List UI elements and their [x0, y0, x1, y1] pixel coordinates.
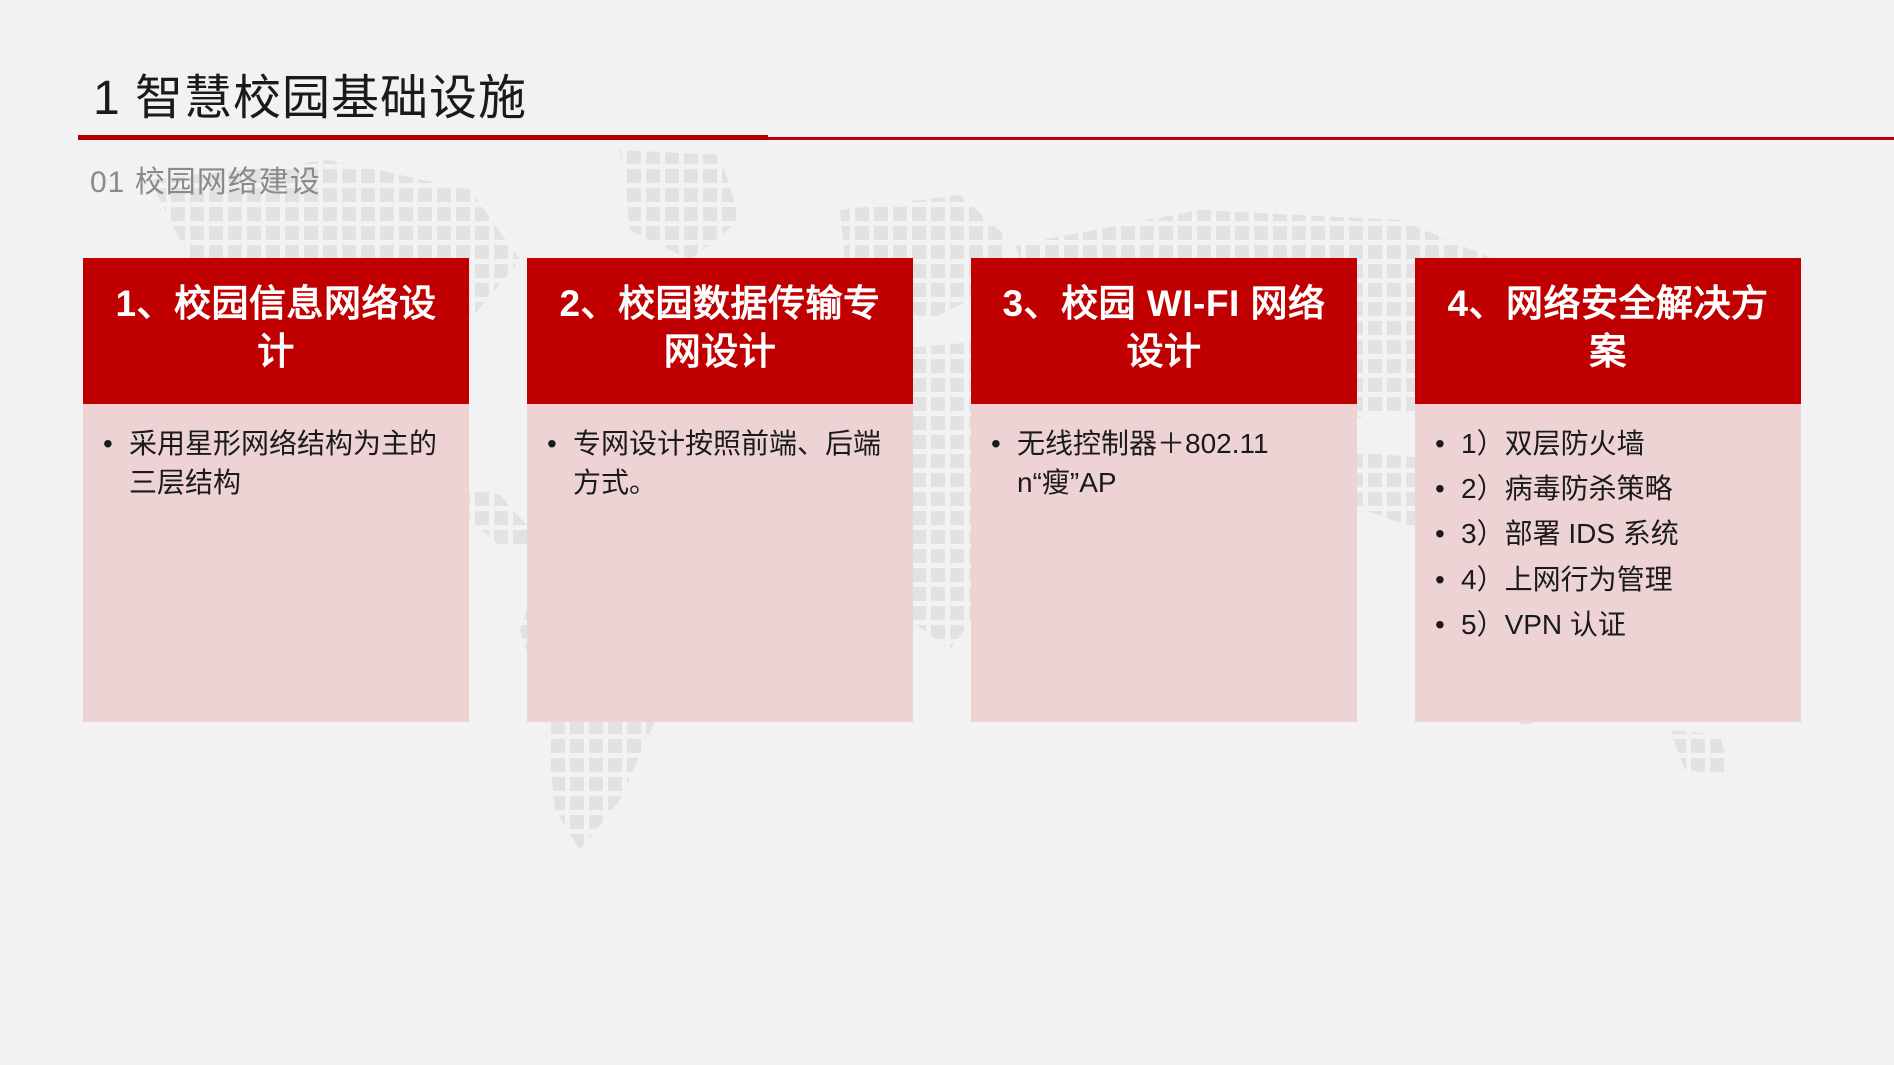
list-item: 3）部署 IDS 系统 [1431, 514, 1789, 553]
card-data-transmission-network[interactable]: 2、校园数据传输专网设计 专网设计按照前端、后端方式。 [527, 258, 913, 722]
list-item: 无线控制器＋802.11n“瘦”AP [987, 424, 1345, 502]
page-subtitle: 01 校园网络建设 [90, 157, 321, 201]
page-title: 1 智慧校园基础设施 [93, 58, 527, 128]
card-header-title: 2、校园数据传输专网设计 [527, 258, 913, 404]
list-item: 4）上网行为管理 [1431, 560, 1789, 599]
card-body: 无线控制器＋802.11n“瘦”AP [971, 404, 1357, 722]
list-item: 专网设计按照前端、后端方式。 [543, 424, 901, 502]
card-bullet-list: 1）双层防火墙 2）病毒防杀策略 3）部署 IDS 系统 4）上网行为管理 5）… [1431, 424, 1789, 644]
card-network-security-solution[interactable]: 4、网络安全解决方案 1）双层防火墙 2）病毒防杀策略 3）部署 IDS 系统 … [1415, 258, 1801, 722]
card-header-title: 1、校园信息网络设计 [83, 258, 469, 404]
card-bullet-list: 专网设计按照前端、后端方式。 [543, 424, 901, 502]
title-divider-accent [78, 135, 768, 140]
card-header-title: 4、网络安全解决方案 [1415, 258, 1801, 404]
card-campus-wifi-network[interactable]: 3、校园 WI-FI 网络设计 无线控制器＋802.11n“瘦”AP [971, 258, 1357, 722]
list-item: 1）双层防火墙 [1431, 424, 1789, 463]
slide-header: 1 智慧校园基础设施 01 校园网络建设 [0, 0, 1894, 215]
card-body: 1）双层防火墙 2）病毒防杀策略 3）部署 IDS 系统 4）上网行为管理 5）… [1415, 404, 1801, 722]
list-item: 2）病毒防杀策略 [1431, 469, 1789, 508]
card-body: 专网设计按照前端、后端方式。 [527, 404, 913, 722]
card-bullet-list: 采用星形网络结构为主的三层结构 [99, 424, 457, 502]
list-item: 5）VPN 认证 [1431, 605, 1789, 644]
card-bullet-list: 无线控制器＋802.11n“瘦”AP [987, 424, 1345, 502]
card-body: 采用星形网络结构为主的三层结构 [83, 404, 469, 722]
card-row: 1、校园信息网络设计 采用星形网络结构为主的三层结构 2、校园数据传输专网设计 … [0, 258, 1894, 658]
card-header-title: 3、校园 WI-FI 网络设计 [971, 258, 1357, 404]
list-item: 采用星形网络结构为主的三层结构 [99, 424, 457, 502]
card-campus-information-network[interactable]: 1、校园信息网络设计 采用星形网络结构为主的三层结构 [83, 258, 469, 722]
